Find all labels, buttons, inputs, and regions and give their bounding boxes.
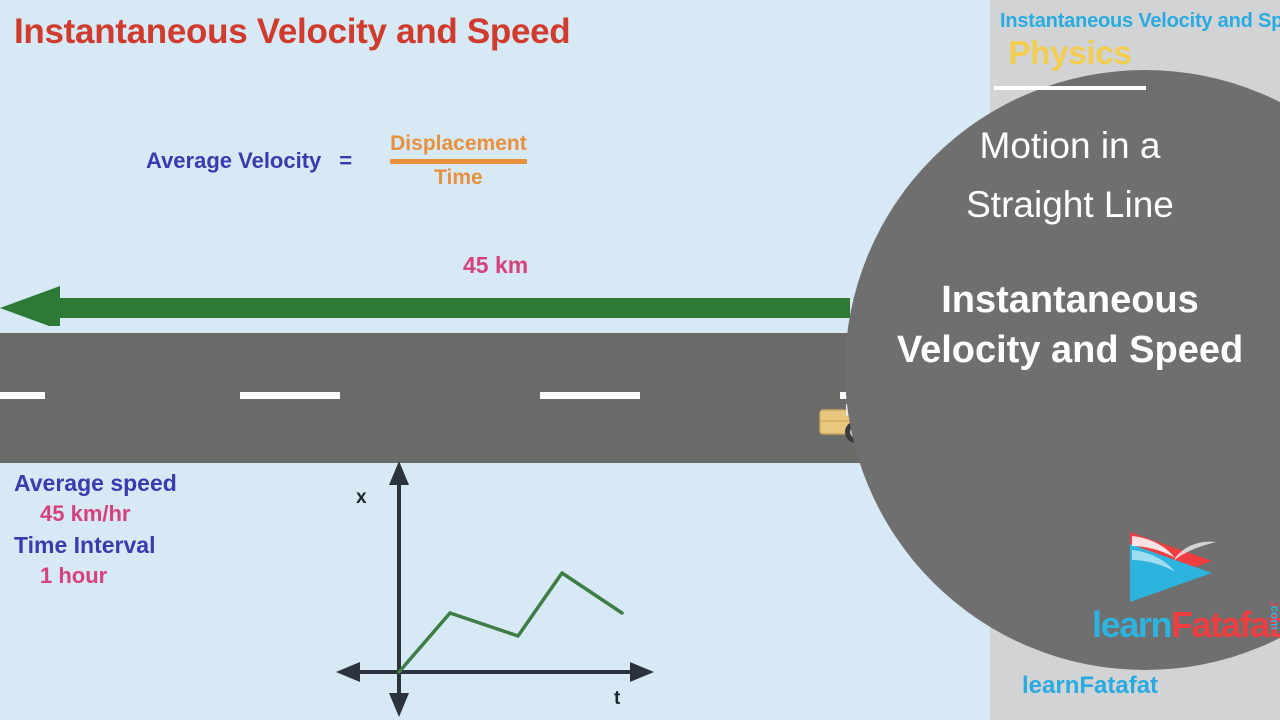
stat-value: 45 km/hr: [0, 498, 240, 529]
topic-title: Instantaneous Velocity and Speed: [897, 276, 1243, 375]
fraction-bar: [390, 159, 527, 164]
logo-word-learn: learn: [1092, 604, 1171, 646]
displacement-arrow-icon: [0, 286, 850, 326]
subject-underline: [994, 86, 1146, 90]
brand-logo: learn Fatafat .com ™: [1092, 528, 1262, 648]
logo-word-fatafat: Fatafat: [1171, 604, 1279, 646]
graph-x-axis-label: t: [614, 688, 620, 710]
chapter-title: Motion in a Straight Line: [966, 116, 1174, 234]
road-dash: [0, 392, 45, 399]
stat-value: 1 hour: [0, 560, 240, 591]
distance-label: 45 km: [463, 252, 528, 279]
average-velocity-formula: Average Velocity = Displacement Time: [146, 132, 527, 191]
road-dash: [240, 392, 340, 399]
side-panel-bottom-text: learnFatafat: [1022, 672, 1158, 700]
average-speed-stats: Average speed 45 km/hr Time Interval 1 h…: [0, 468, 240, 591]
page-title: Instantaneous Velocity and Speed: [14, 12, 570, 52]
fraction-denominator: Time: [434, 166, 483, 191]
topic-title-line-2: Velocity and Speed: [897, 326, 1243, 375]
fraction-numerator: Displacement: [390, 132, 527, 157]
book-play-logo-icon: [1120, 528, 1230, 606]
stat-heading: Time Interval: [0, 530, 240, 560]
chapter-title-line-1: Motion in a: [966, 116, 1174, 175]
stat-heading: Average speed: [0, 468, 240, 498]
subject-label: Physics: [1008, 34, 1131, 72]
logo-wordmark: learn Fatafat .com ™: [1092, 604, 1277, 646]
overlay-content: Physics Motion in a Straight Line Instan…: [860, 20, 1280, 500]
logo-trademark-icon: ™: [1269, 602, 1279, 613]
formula-fraction: Displacement Time: [390, 132, 527, 191]
graph-y-axis-label: x: [356, 487, 367, 509]
formula-equals-sign: =: [339, 148, 352, 174]
slide-canvas: Instantaneous Velocity and Speed learnFa…: [0, 0, 1280, 720]
chapter-title-line-2: Straight Line: [966, 175, 1174, 234]
formula-left-hand-side: Average Velocity: [146, 148, 321, 174]
road-dash: [540, 392, 640, 399]
topic-title-line-1: Instantaneous: [897, 276, 1243, 325]
position-time-graph: [330, 455, 675, 720]
